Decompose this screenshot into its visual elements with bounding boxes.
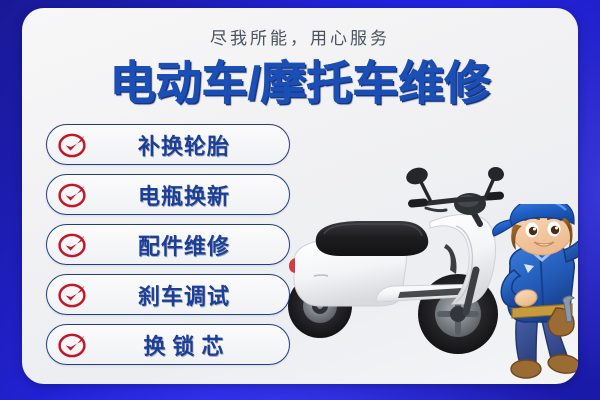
service-label: 换锁芯: [91, 329, 289, 361]
service-item-3[interactable]: 刹车调试: [46, 274, 290, 315]
poster-card: 尽我所能，用心服务 电动车/摩托车维修 补换轮胎: [22, 8, 578, 384]
service-item-2[interactable]: 配件维修: [46, 224, 290, 265]
service-label: 补换轮胎: [91, 129, 289, 161]
service-list: 补换轮胎 电瓶换新 配件维修: [46, 124, 290, 365]
page-title: 电动车/摩托车维修: [22, 58, 578, 110]
service-label: 电瓶换新: [91, 179, 289, 211]
tagline-text: 尽我所能，用心服务: [22, 24, 578, 49]
poster-canvas: 尽我所能，用心服务 电动车/摩托车维修 补换轮胎: [0, 0, 600, 400]
check-circle-icon: [57, 179, 89, 211]
service-item-1[interactable]: 电瓶换新: [46, 174, 290, 215]
check-circle-icon: [57, 229, 89, 261]
service-label: 刹车调试: [91, 279, 289, 311]
service-label: 配件维修: [91, 229, 289, 261]
check-circle-icon: [57, 129, 89, 161]
check-circle-icon: [57, 329, 89, 361]
service-item-4[interactable]: 换锁芯: [46, 324, 290, 365]
service-item-0[interactable]: 补换轮胎: [46, 124, 290, 165]
mechanic-illustration: [474, 204, 578, 384]
check-circle-icon: [57, 279, 89, 311]
